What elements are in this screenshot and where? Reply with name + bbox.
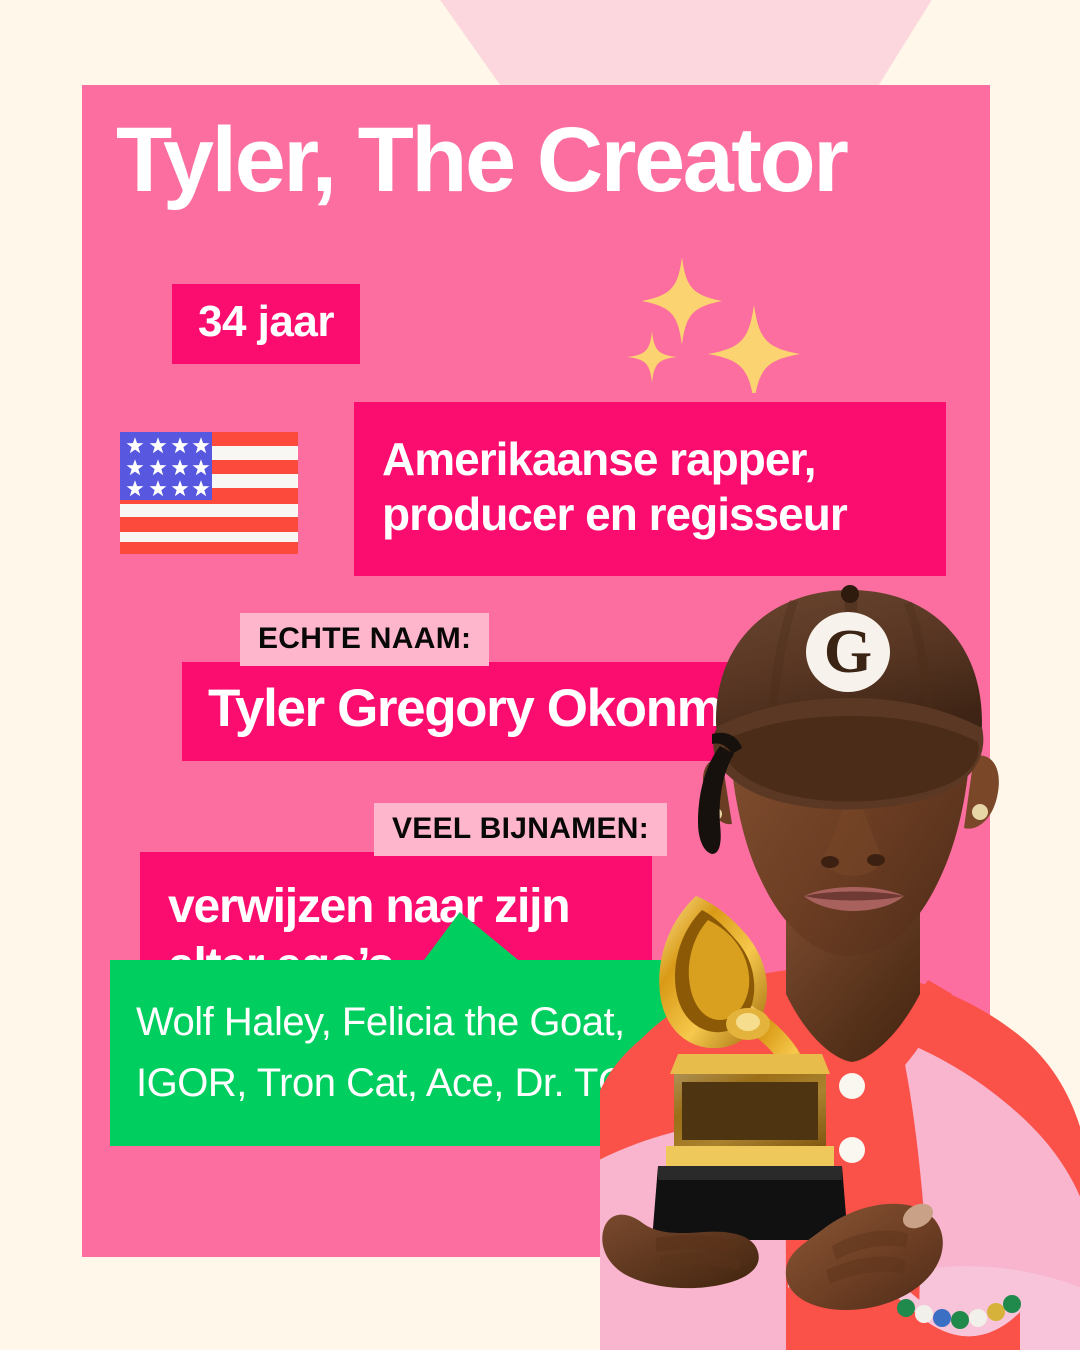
- nicknames-tag-row: VEEL BIJNAMEN:: [140, 803, 667, 856]
- nicknames-tag: VEEL BIJNAMEN:: [374, 803, 667, 856]
- age-badge: 34 jaar: [172, 284, 360, 364]
- us-flag-icon: [118, 428, 300, 556]
- sparkles-icon: [622, 253, 812, 393]
- role-line-2: producer en regisseur: [382, 487, 918, 542]
- role-banner: Amerikaanse rapper, producer en regisseu…: [354, 402, 946, 576]
- poster-canvas: Tyler, The Creator 34 jaar: [0, 0, 1080, 1350]
- real-name-tag: ECHTE NAAM:: [240, 613, 489, 666]
- role-line-1: Amerikaanse rapper,: [382, 432, 918, 487]
- portrait-photo: G: [600, 570, 1080, 1350]
- svg-text:G: G: [824, 618, 872, 686]
- page-title: Tyler, The Creator: [116, 114, 846, 206]
- nicknames-line-1: verwijzen naar zijn: [168, 878, 624, 937]
- background-trapezoid-shape: [0, 0, 1080, 88]
